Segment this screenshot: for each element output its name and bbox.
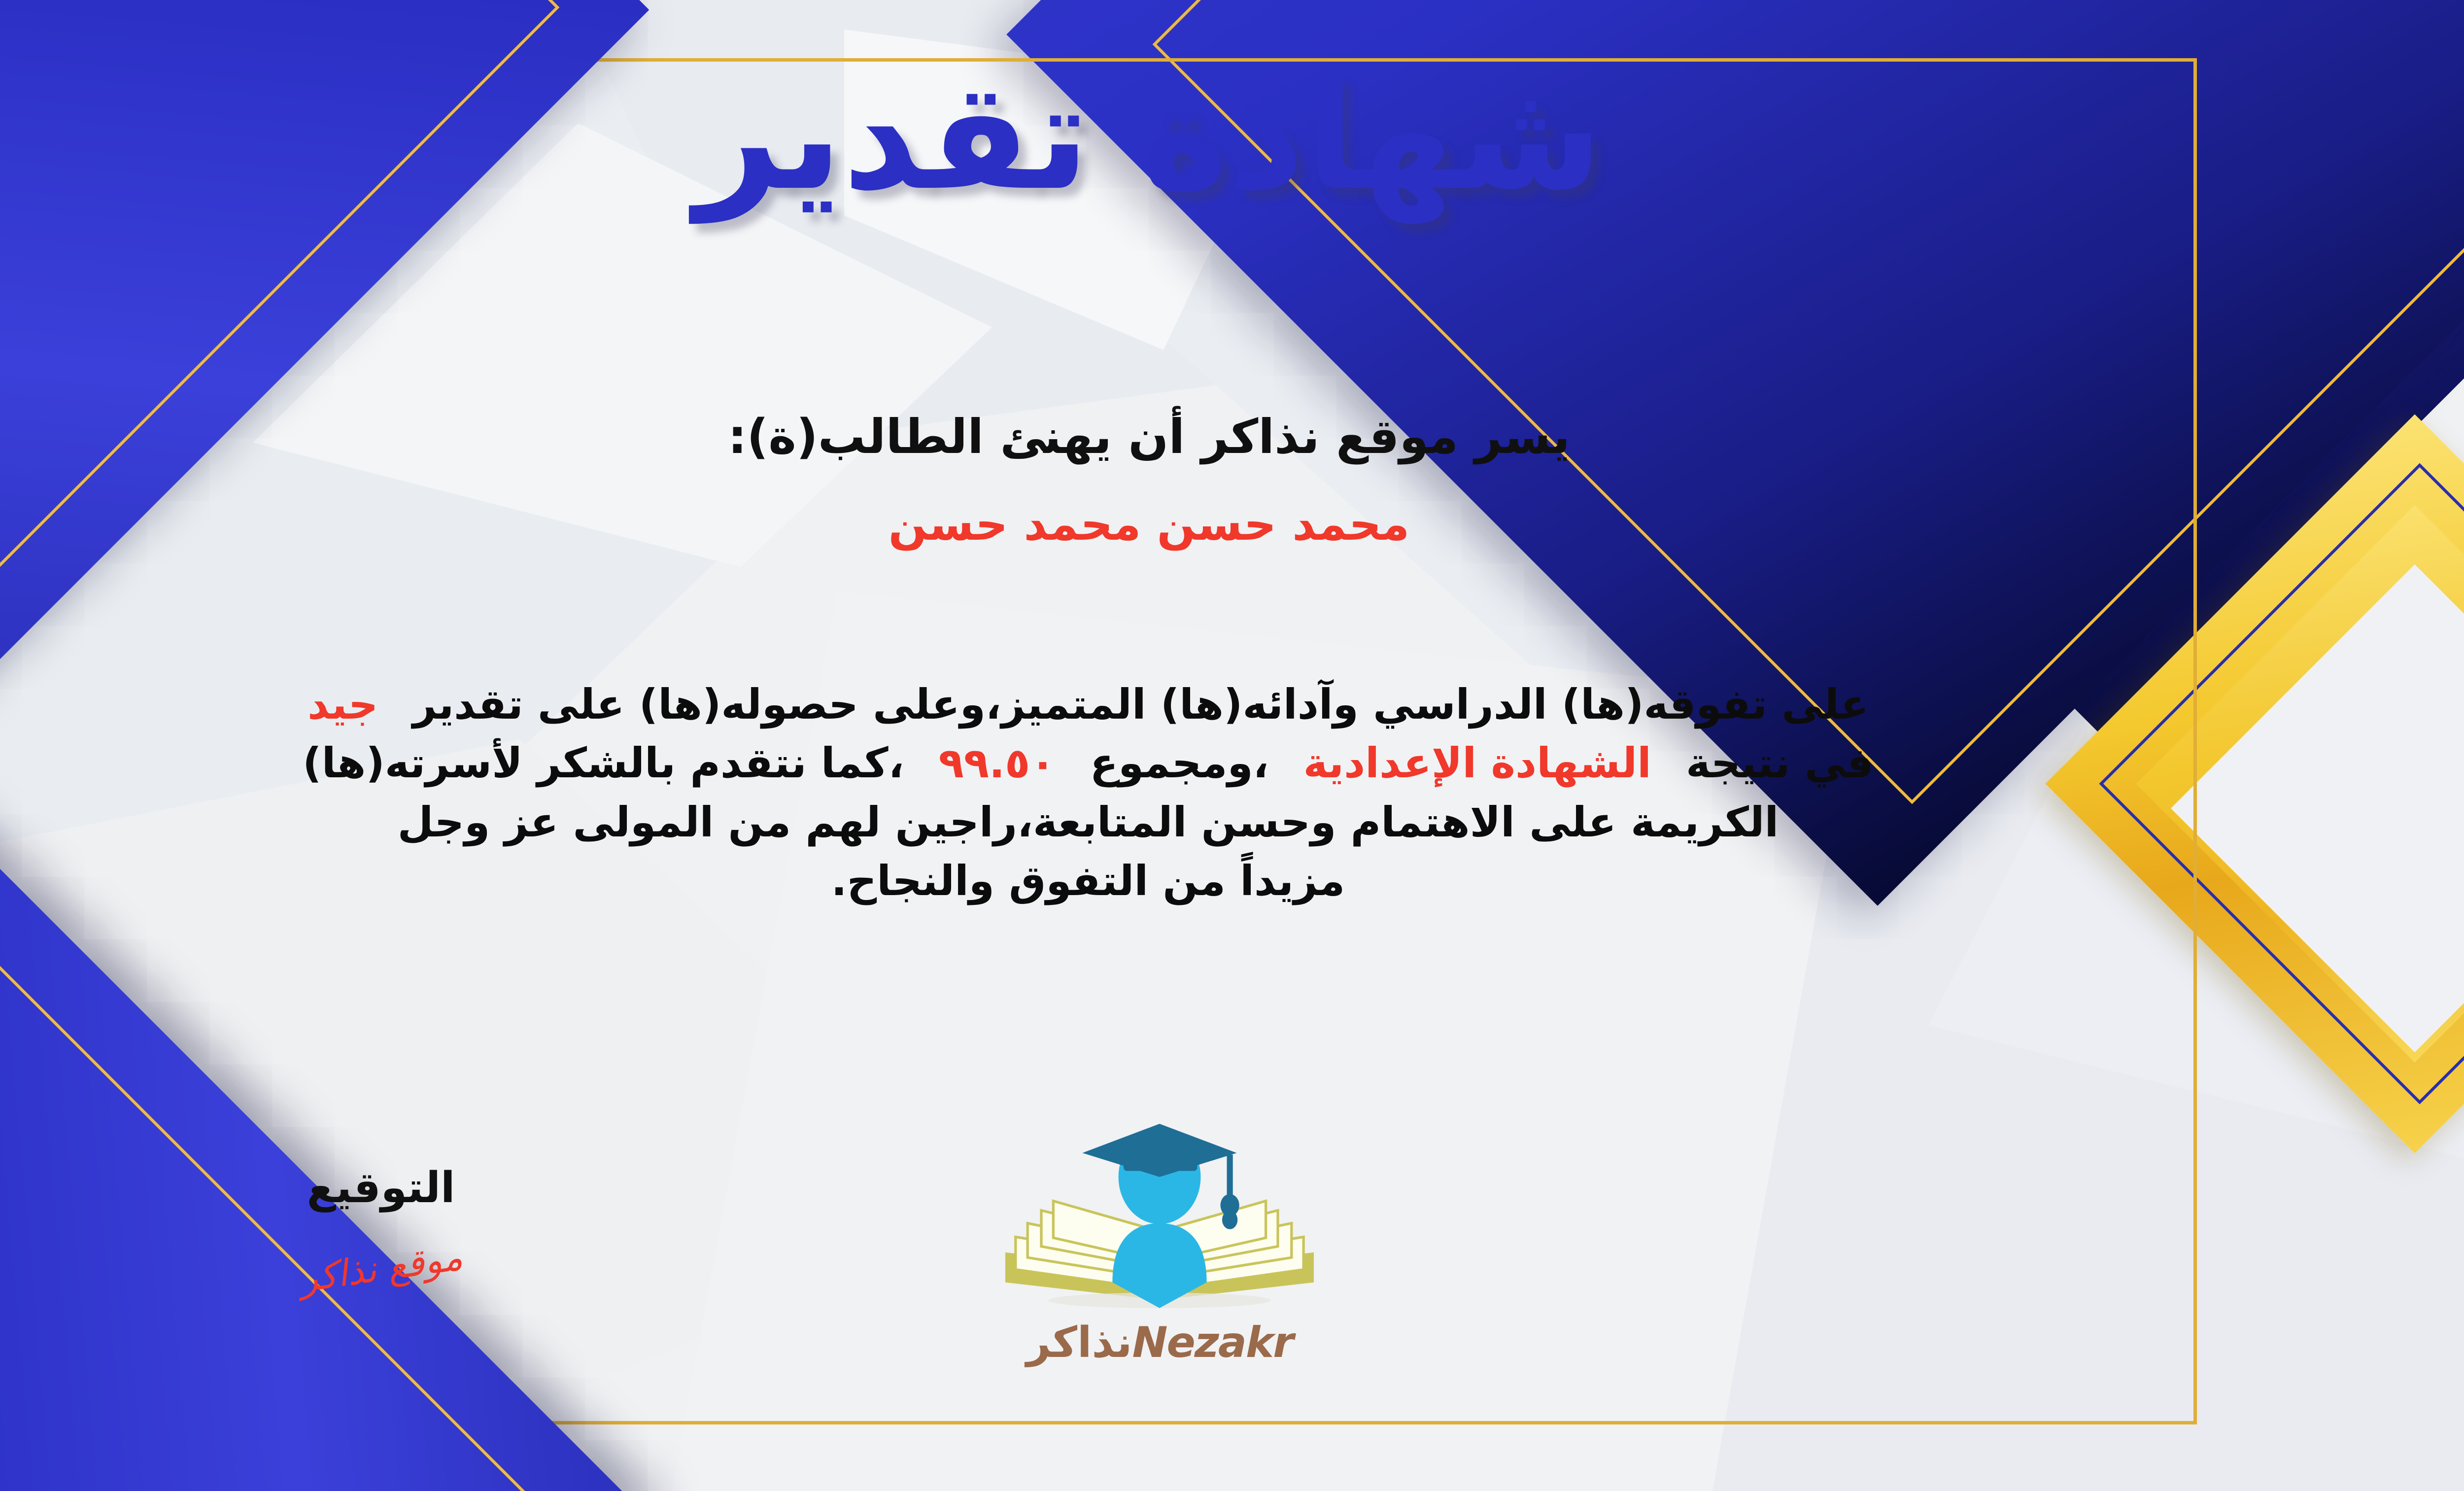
certificate-canvas: شهادة تقدير يسر موقع نذاكر أن يهنئ الطال… [0,0,2464,1491]
certificate-content: شهادة تقدير يسر موقع نذاكر أن يهنئ الطال… [0,0,2464,1491]
body-line-4: مزيداً من التفوق والنجاح. [0,852,2180,910]
certificate-title: شهادة تقدير [0,52,2464,222]
signature-block: التوقيع موقع نذاكر [208,1163,553,1289]
grade-value: جيد [308,680,378,728]
intro-line: يسر موقع نذاكر أن يهنئ الطالب(ة): [0,409,2464,464]
body-line-3: الكريمة على الاهتمام وحسن المتابعة،راجين… [0,793,2180,852]
body-text-block: على تفوقه(ها) الدراسي وآدائه(ها) المتميز… [0,675,2180,910]
nezakr-logo: Nezakrنذاكر [972,1124,1347,1400]
logo-name-latin: Nezakr [1132,1318,1293,1367]
certificate-stage-value: الشهادة الإعدادية [1303,739,1651,787]
logo-graphic [972,1124,1347,1321]
body-line-1: على تفوقه(ها) الدراسي وآدائه(ها) المتميز… [0,675,2180,734]
signature-label: التوقيع [208,1163,553,1213]
logo-wordmark: Nezakrنذاكر [972,1318,1347,1367]
body-line-2-prefix: في نتيجة [1686,739,1874,787]
logo-name-arabic: نذاكر [1027,1318,1132,1367]
body-line-2: في نتيجةالشهادة الإعدادية،ومجموع٩٩.٥٠،كم… [0,734,2180,793]
graduate-book-icon [972,1124,1347,1321]
body-line-1-text: على تفوقه(ها) الدراسي وآدائه(ها) المتميز… [412,680,1869,728]
body-line-2-suffix: ،كما نتقدم بالشكر لأسرته(ها) [303,739,904,787]
body-line-2-middle: ،ومجموع [1090,739,1269,787]
signature-script: موقع نذاكر [297,1236,465,1300]
student-name: محمد حسن محمد حسن [0,498,2464,551]
total-score-value: ٩٩.٥٠ [939,739,1056,787]
